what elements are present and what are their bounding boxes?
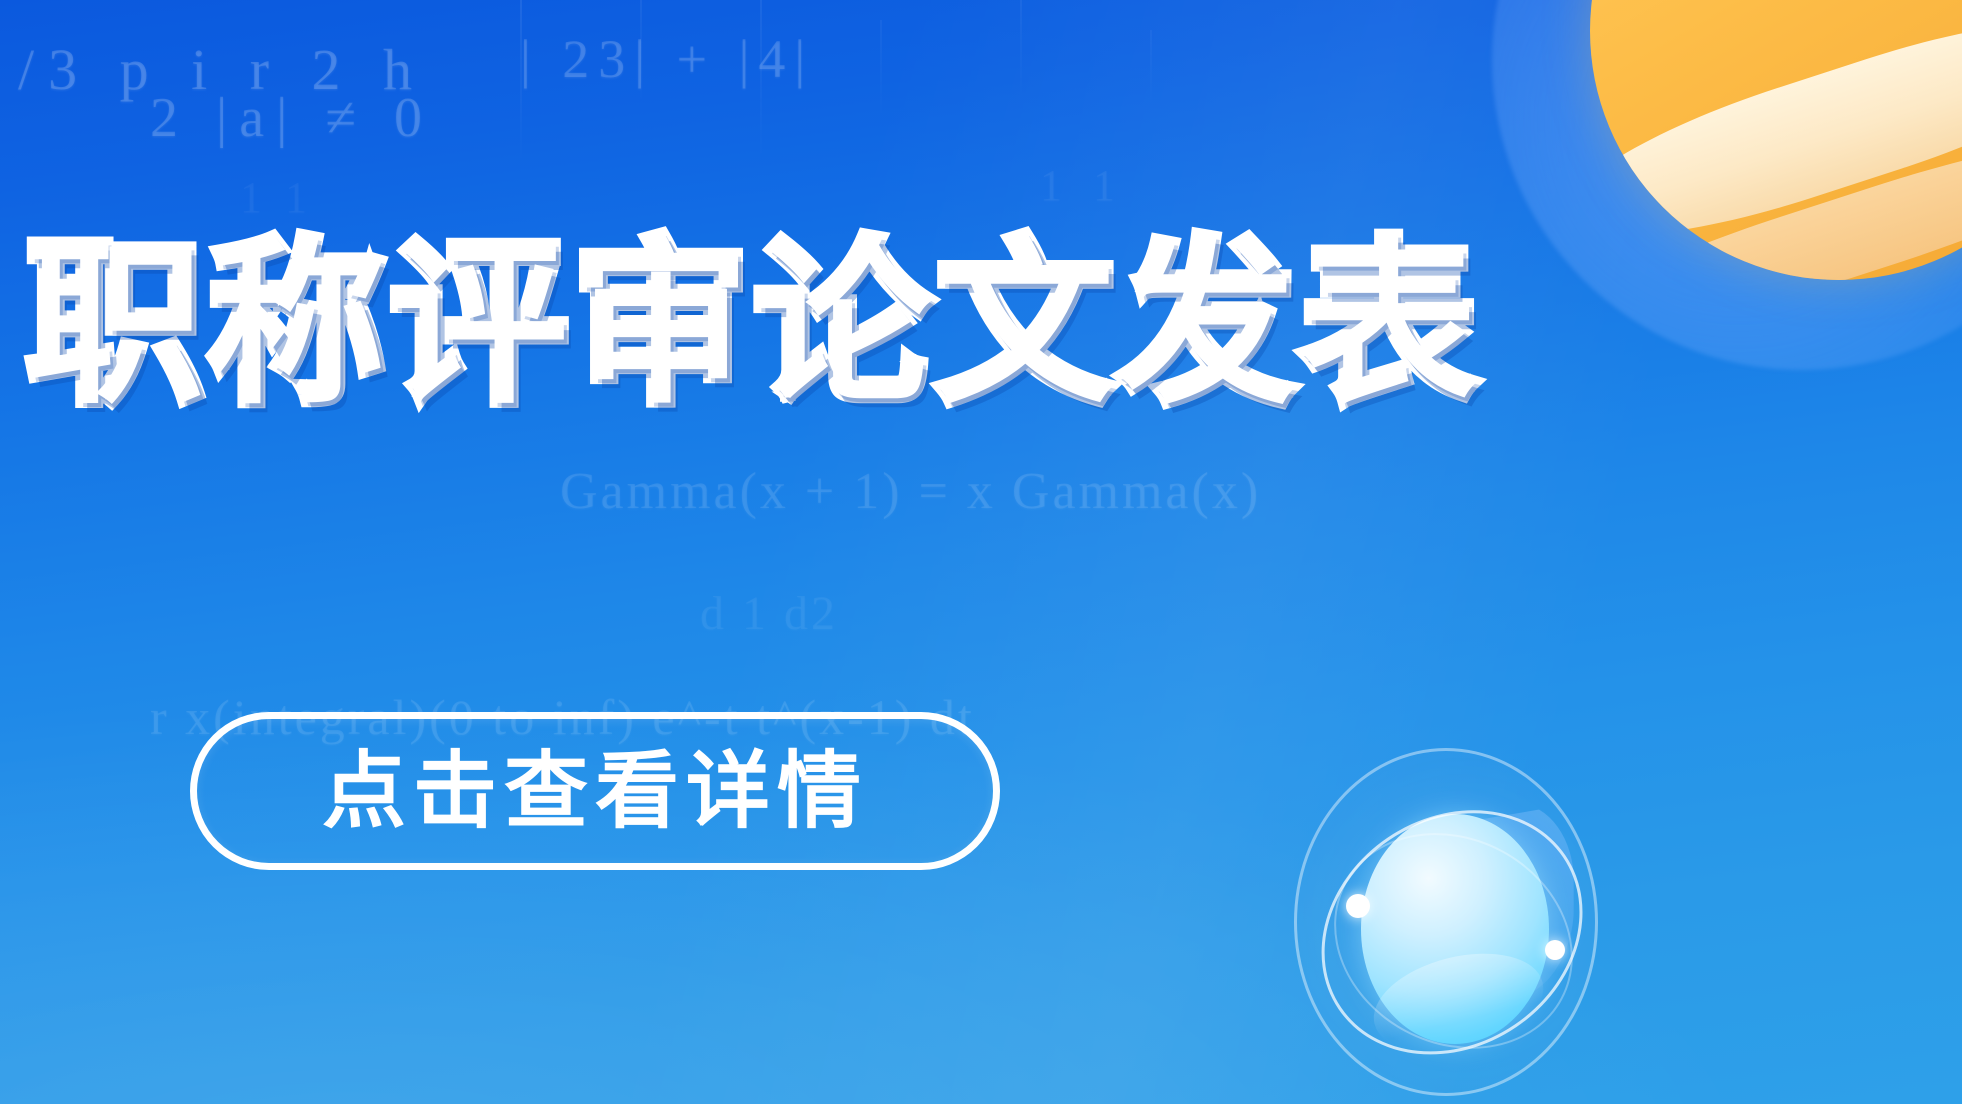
page-title: 职称评审论文发表: [26, 236, 1482, 414]
atom-electron-2: [1545, 940, 1565, 960]
watermark-formula-7: 1 1: [240, 172, 313, 223]
atom-icon: [1294, 748, 1598, 1096]
promo-banner: /3 p i r 2 h 2 |a| ≠ 0 | 23| + |4| Gamma…: [0, 0, 1962, 1104]
watermark-formula-8: 1 1: [1040, 160, 1125, 211]
watermark-formula-3: | 23| + |4|: [520, 28, 814, 90]
watermark-formula-1: /3 p i r 2 h: [18, 36, 426, 103]
atom-electron-1: [1346, 894, 1370, 918]
view-details-button-label: 点击查看详情: [322, 749, 868, 833]
watermark-formula-4: Gamma(x + 1) = x Gamma(x): [560, 462, 1261, 521]
watermark-formula-2: 2 |a| ≠ 0: [150, 86, 434, 150]
view-details-button[interactable]: 点击查看详情: [190, 712, 1000, 870]
watermark-formula-6: d 1 d2: [700, 586, 838, 641]
